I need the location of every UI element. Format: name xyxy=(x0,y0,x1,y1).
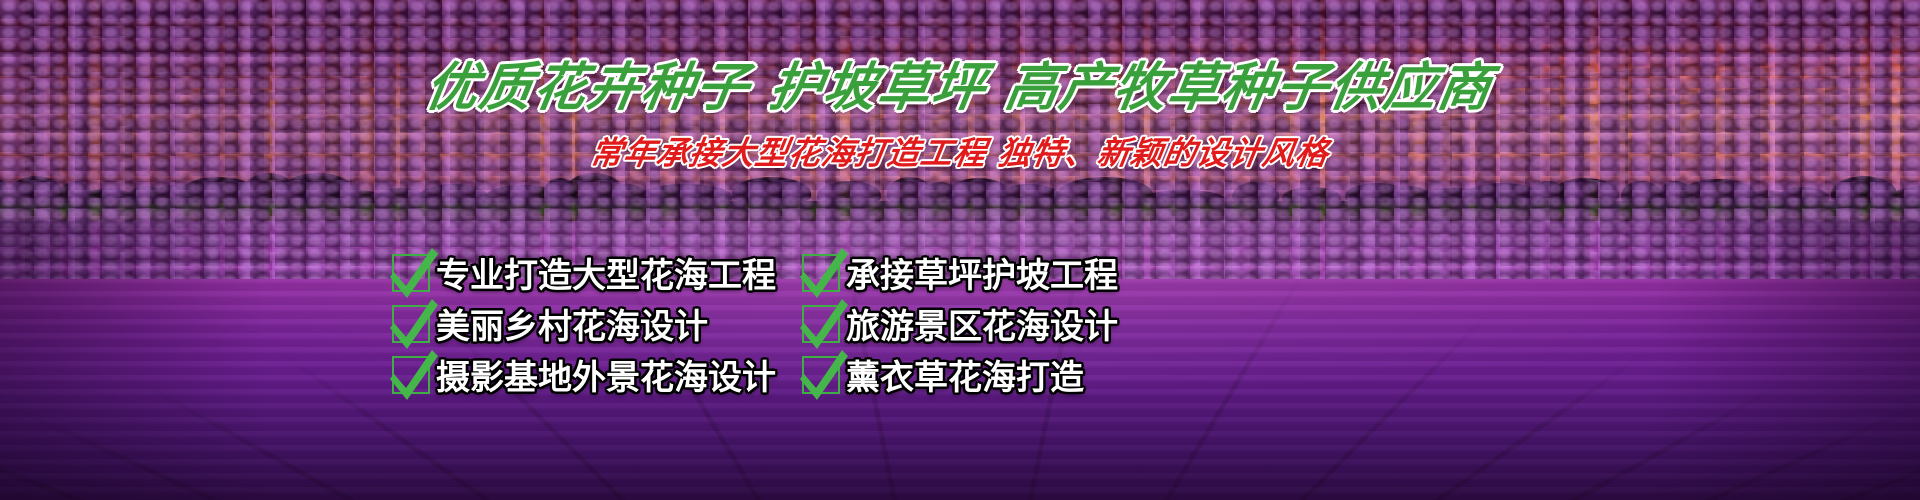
feature-item: 薰衣草花海打造 xyxy=(802,350,1192,399)
promo-banner: 优质花卉种子 护坡草坪 高产牧草种子供应商 常年承接大型花海打造工程 独特、新颖… xyxy=(0,0,1920,500)
feature-label: 摄影基地外景花海设计 xyxy=(436,350,776,399)
check-mark-icon xyxy=(802,305,840,343)
feature-label: 承接草坪护坡工程 xyxy=(846,248,1118,297)
check-mark-icon xyxy=(392,254,430,292)
feature-row: 美丽乡村花海设计 旅游景区花海设计 xyxy=(392,298,1192,349)
feature-label: 旅游景区花海设计 xyxy=(846,299,1118,348)
banner-main-title: 优质花卉种子 护坡草坪 高产牧草种子供应商 xyxy=(0,45,1920,120)
banner-sub-title: 常年承接大型花海打造工程 独特、新颖的设计风格 xyxy=(0,128,1920,174)
check-mark-icon xyxy=(392,356,430,394)
feature-item: 摄影基地外景花海设计 xyxy=(392,350,802,399)
feature-item: 旅游景区花海设计 xyxy=(802,299,1192,348)
feature-label: 专业打造大型花海工程 xyxy=(436,248,776,297)
feature-item: 承接草坪护坡工程 xyxy=(802,248,1192,297)
feature-row: 摄影基地外景花海设计 薰衣草花海打造 xyxy=(392,349,1192,400)
check-mark-icon xyxy=(802,254,840,292)
feature-item: 专业打造大型花海工程 xyxy=(392,248,802,297)
feature-checklist: 专业打造大型花海工程 承接草坪护坡工程 xyxy=(392,247,1192,400)
check-mark-icon xyxy=(392,305,430,343)
check-mark-icon xyxy=(802,356,840,394)
feature-item: 美丽乡村花海设计 xyxy=(392,299,802,348)
text-overlay: 优质花卉种子 护坡草坪 高产牧草种子供应商 常年承接大型花海打造工程 独特、新颖… xyxy=(0,0,1920,500)
feature-row: 专业打造大型花海工程 承接草坪护坡工程 xyxy=(392,247,1192,298)
feature-label: 薰衣草花海打造 xyxy=(846,350,1084,399)
feature-label: 美丽乡村花海设计 xyxy=(436,299,708,348)
